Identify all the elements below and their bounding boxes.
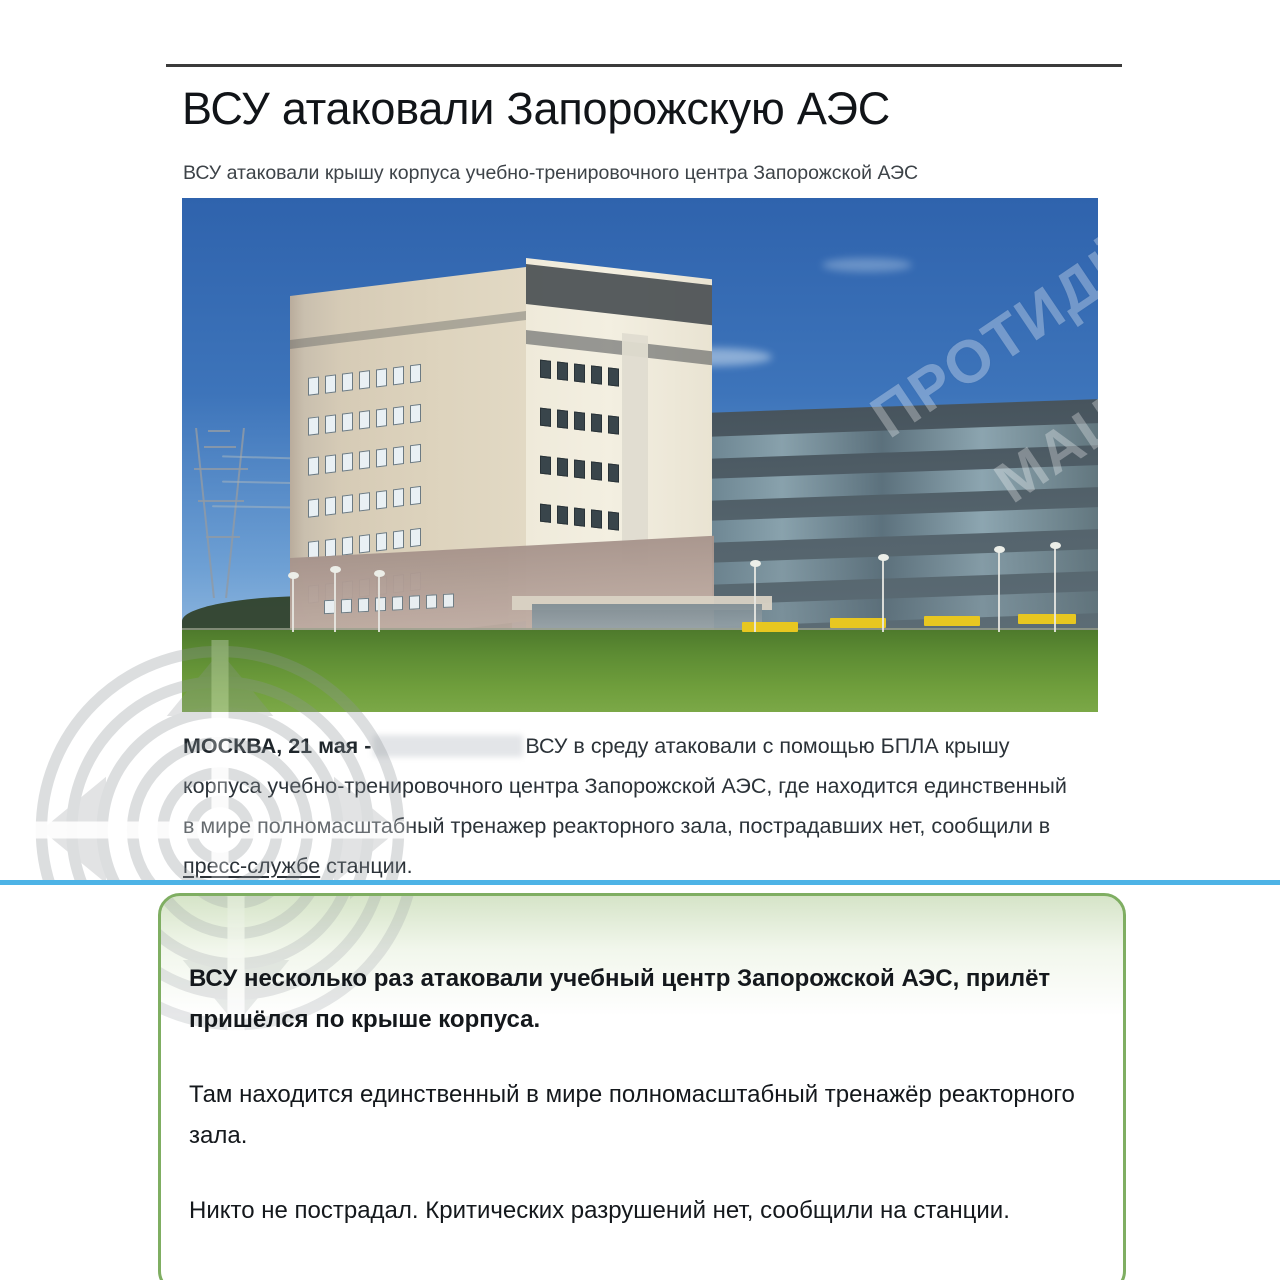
lamp-head-icon (878, 554, 889, 561)
article-body: МОСКВА, 21 мая -ВСУ в среду атаковали с … (183, 726, 1073, 886)
bench (742, 622, 798, 632)
bench (924, 616, 980, 626)
article-body-tail: зала, пострадавших нет, сообщили в (681, 814, 1051, 838)
message-paragraph: Никто не пострадал. Критических разрушен… (189, 1190, 1089, 1231)
press-service-link[interactable]: пресс-службе (183, 854, 320, 878)
lamp-post (1054, 546, 1056, 632)
article-body-end: станции. (326, 854, 413, 878)
lamp-post (292, 576, 294, 632)
lamp-post (998, 550, 1000, 632)
page-title: ВСУ атаковали Запорожскую АЭС (182, 82, 1112, 136)
lamp-post (378, 574, 380, 632)
lamp-post (882, 558, 884, 632)
power-pylon (204, 428, 268, 598)
message-paragraph: Там находится единственный в мире полном… (189, 1074, 1089, 1156)
article-dateline: МОСКВА, 21 мая - (183, 734, 371, 758)
article-subheadline: ВСУ атаковали крышу корпуса учебно-трени… (183, 160, 1113, 186)
lawn (182, 630, 1098, 712)
lamp-head-icon (288, 572, 299, 579)
lamp-head-icon (374, 570, 385, 577)
bench (830, 618, 886, 628)
cloud-shape (822, 258, 912, 272)
lamp-post (334, 570, 336, 632)
header-rule (166, 64, 1122, 67)
lamp-head-icon (330, 566, 341, 573)
message-text: ВСУ несколько раз атаковали учебный цент… (189, 958, 1089, 1265)
message-screenshot: ВСУ несколько раз атаковали учебный цент… (0, 885, 1280, 1280)
article-photo: ПРОТИДІЇ МАЦІЇ (182, 198, 1098, 712)
message-bubble: ВСУ несколько раз атаковали учебный цент… (158, 893, 1126, 1280)
redacted-source-name (373, 735, 523, 757)
lamp-head-icon (1050, 542, 1061, 549)
lamp-head-icon (994, 546, 1005, 553)
bench (1018, 614, 1076, 624)
training-center-building (290, 258, 710, 650)
message-paragraph: ВСУ несколько раз атаковали учебный цент… (189, 958, 1089, 1040)
lamp-post (754, 564, 756, 632)
article-screenshot: ВСУ атаковали Запорожскую АЭС ВСУ атаков… (0, 0, 1280, 884)
lamp-head-icon (750, 560, 761, 567)
